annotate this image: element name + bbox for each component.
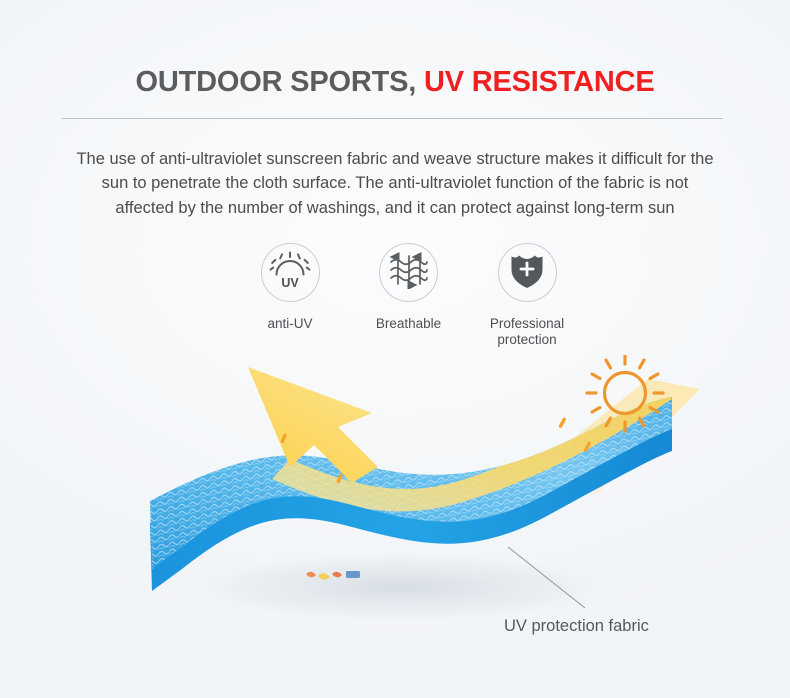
promo-banner: OUTDOOR SPORTS, UV RESISTANCE The use of… (0, 0, 790, 698)
page-title-accent: UV RESISTANCE (424, 66, 655, 98)
feature-breathable: Breathable (355, 243, 463, 332)
intro-paragraph: The use of anti-ultraviolet sunscreen fa… (72, 147, 718, 221)
title-divider (62, 118, 723, 119)
feature-anti-uv: UV anti-UV (236, 243, 344, 332)
fabric-caption: UV protection fabric (504, 617, 649, 636)
fabric-illustration (0, 355, 790, 655)
feature-professional-protection-badge (498, 243, 557, 302)
feature-anti-uv-badge: UV (261, 243, 320, 302)
page-title: OUTDOOR SPORTS, UV RESISTANCE (0, 66, 790, 99)
feature-breathable-label: Breathable (376, 316, 441, 332)
shield-plus-icon (509, 251, 545, 294)
sun-uv-icon: UV (269, 250, 311, 295)
airflow-waves-icon (389, 251, 429, 294)
feature-breathable-badge (379, 243, 438, 302)
page-title-primary: OUTDOOR SPORTS, (136, 66, 417, 98)
feature-professional-protection: Professional protection (473, 243, 581, 348)
feature-professional-protection-label: Professional protection (473, 316, 581, 348)
feature-list: UV anti-UV (236, 243, 581, 348)
feature-anti-uv-label: anti-UV (267, 316, 312, 332)
sun-uv-icon-text: UV (281, 276, 299, 290)
fabric-shadow (168, 549, 632, 625)
